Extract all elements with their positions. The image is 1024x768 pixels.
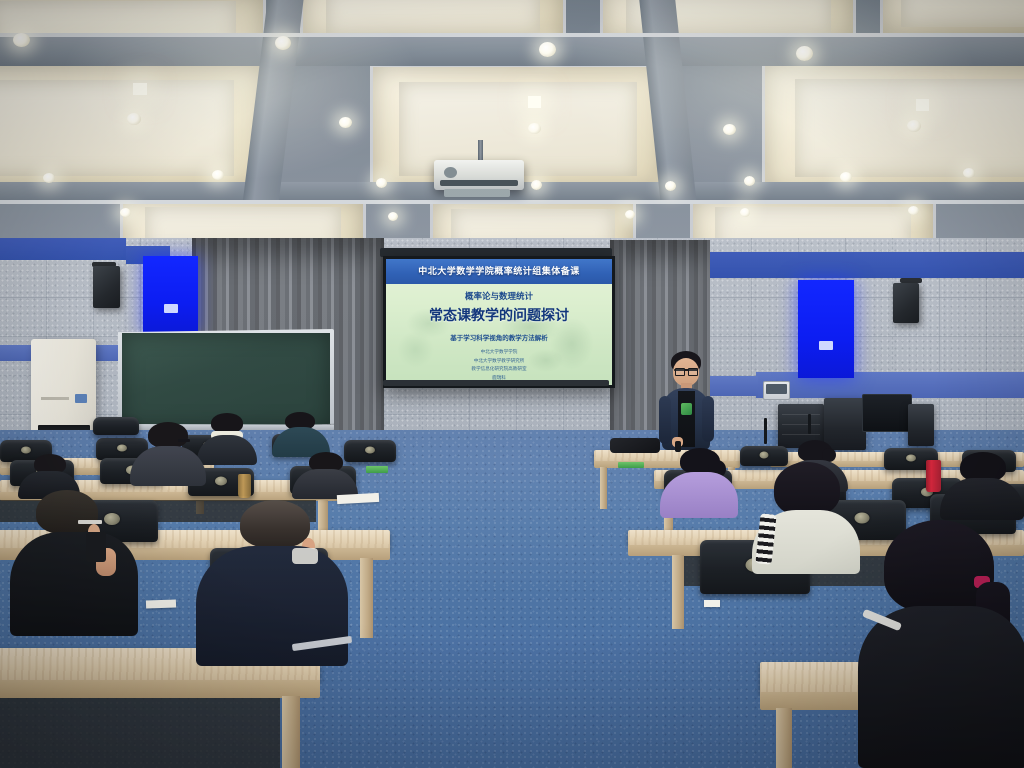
person-torso xyxy=(858,606,1024,768)
downlight xyxy=(665,181,676,191)
person-hair xyxy=(774,462,840,516)
downlight xyxy=(120,208,131,217)
ceiling-beam xyxy=(0,36,1024,66)
person-torso xyxy=(940,478,1024,520)
audience-person-a6 xyxy=(18,454,80,494)
ceiling-square-light xyxy=(528,96,541,108)
chair-medallion xyxy=(365,447,375,454)
note-paper xyxy=(704,600,720,607)
person-collar xyxy=(292,548,318,564)
downlight xyxy=(339,117,352,128)
person-glasses xyxy=(178,439,190,442)
desk-leg xyxy=(600,467,607,509)
presenter-glasses-lens xyxy=(675,368,685,376)
ac-display xyxy=(75,394,87,403)
chair-medallion xyxy=(215,476,227,485)
audience-person-a5 xyxy=(272,412,330,454)
chair-medallion xyxy=(760,452,769,459)
slide-content: 中北大学数学学院概率统计组集体备课 概率论与数理统计 常态课教学的问题探讨 基于… xyxy=(386,259,612,385)
slide-affiliation-2: 中北大学数学教学研究所 xyxy=(471,357,526,365)
downlight xyxy=(531,180,542,190)
audience-person-a12 xyxy=(292,452,358,496)
projector-lens xyxy=(444,167,457,178)
person-torso xyxy=(660,472,738,518)
ceiling-coffer xyxy=(880,0,1024,36)
downlight xyxy=(13,33,30,47)
downlight xyxy=(539,42,556,57)
ceiling-beam-edge xyxy=(0,33,1024,37)
ceiling xyxy=(0,0,1024,250)
downlight xyxy=(740,208,750,217)
equipment-rack-right xyxy=(908,404,934,446)
lecture-hall-photo: 中北大学数学学院概率统计组集体备课 概率论与数理统计 常态课教学的问题探讨 基于… xyxy=(0,0,1024,768)
downlight xyxy=(908,206,919,215)
audience-person-a3 xyxy=(130,422,206,480)
rack-line xyxy=(782,434,820,435)
black-bag xyxy=(610,438,660,453)
downlight xyxy=(840,172,852,182)
audience-person-a10 xyxy=(940,452,1024,514)
slide-subtitle: 基于学习科学视角的教学方法解析 xyxy=(450,332,548,342)
downlight xyxy=(376,178,387,188)
slide-header-text: 中北大学数学学院概率统计组集体备课 xyxy=(418,267,580,276)
ceiling-square-light xyxy=(133,83,147,95)
desk-leg xyxy=(360,558,373,638)
rack-line xyxy=(782,424,820,425)
person-torso xyxy=(196,546,348,666)
person-torso xyxy=(10,532,138,636)
downlight xyxy=(963,168,975,178)
ac-brand-label xyxy=(41,397,69,400)
person-hair xyxy=(240,500,310,548)
person-hair xyxy=(211,413,243,433)
desk-leg xyxy=(282,696,300,768)
chair-medallion xyxy=(906,455,916,462)
slide-affiliation-1: 中北大学数学学院 xyxy=(471,348,526,356)
projection-screen: 中北大学数学学院概率统计组集体备课 概率论与数理统计 常态课教学的问题探讨 基于… xyxy=(383,256,615,388)
wall-display-panel-left[interactable] xyxy=(143,256,198,334)
ac-top-vent xyxy=(35,343,92,371)
downlight xyxy=(127,113,141,125)
slide-main-title: 常态课教学的问题探讨 xyxy=(429,305,569,325)
tea-cup xyxy=(238,474,251,498)
person-hair xyxy=(148,422,188,448)
desk-leg xyxy=(672,555,684,629)
presenter-glasses-lens xyxy=(688,368,698,376)
projector-vent xyxy=(440,180,518,186)
wall-control-panel[interactable] xyxy=(763,381,790,400)
console-monitor xyxy=(862,394,912,432)
audience-person-a4 xyxy=(197,413,257,459)
person-glasses xyxy=(78,520,102,524)
slide-body: 概率论与数理统计 常态课教学的问题探讨 基于学习科学视角的教学方法解析 中北大学… xyxy=(386,284,612,385)
desk-edge xyxy=(0,680,320,698)
presenter-shirt-graphic xyxy=(681,403,692,415)
downlight xyxy=(907,120,921,132)
downlight xyxy=(212,170,224,180)
wall-blue-top-band xyxy=(700,252,1024,278)
person-phone xyxy=(86,532,106,562)
standing-presenter xyxy=(657,351,715,461)
panel-indicator xyxy=(819,341,833,350)
chair-medallion xyxy=(21,447,31,454)
desk-shelf-shadow xyxy=(0,698,280,768)
downlight xyxy=(528,123,541,134)
ceiling-square-light xyxy=(916,99,929,111)
console-microphone xyxy=(808,414,811,434)
wall-blue-top-band xyxy=(0,238,126,260)
projector-base xyxy=(444,189,510,197)
panel-indicator xyxy=(164,304,178,313)
presenter-arm-right xyxy=(702,396,714,442)
audience-person-a7 xyxy=(660,448,738,514)
audience-person-a2 xyxy=(196,500,348,660)
green-notebook xyxy=(618,462,644,468)
person-torso xyxy=(130,446,206,486)
note-paper xyxy=(146,599,176,608)
downlight xyxy=(625,210,635,219)
rack-line xyxy=(782,414,820,415)
audience-person-a8 xyxy=(752,462,860,568)
wall-display-panel-right[interactable] xyxy=(798,280,854,378)
desk-leg xyxy=(776,708,792,768)
slide-header-bar: 中北大学数学学院概率统计组集体备课 xyxy=(386,259,612,284)
downlight xyxy=(796,46,813,61)
downlight xyxy=(723,124,736,135)
ceiling-coffer xyxy=(762,60,1024,196)
downlight xyxy=(43,173,55,183)
ceiling-beam-edge xyxy=(0,200,1024,204)
slide-course-title: 概率论与数理统计 xyxy=(465,290,533,302)
person-torso xyxy=(197,435,257,465)
ceiling-coffer xyxy=(0,62,266,194)
console-microphone xyxy=(764,418,767,444)
presenter-arm-left xyxy=(659,396,671,444)
wall-speaker-left xyxy=(93,266,120,308)
red-thermos xyxy=(926,460,941,492)
audience-person-a1 xyxy=(10,490,138,630)
downlight xyxy=(275,36,291,50)
green-notebook xyxy=(366,466,388,473)
downlight xyxy=(388,212,398,221)
screen-bottom-bar xyxy=(383,380,609,386)
control-panel-display xyxy=(766,384,787,394)
slide-affiliation-3: 教学信息化研究院高教研室 xyxy=(471,365,526,373)
chair-medallion xyxy=(117,445,127,452)
wall-speaker-right xyxy=(893,283,919,323)
audience-person-a9 xyxy=(858,520,1024,768)
downlight xyxy=(744,176,755,186)
